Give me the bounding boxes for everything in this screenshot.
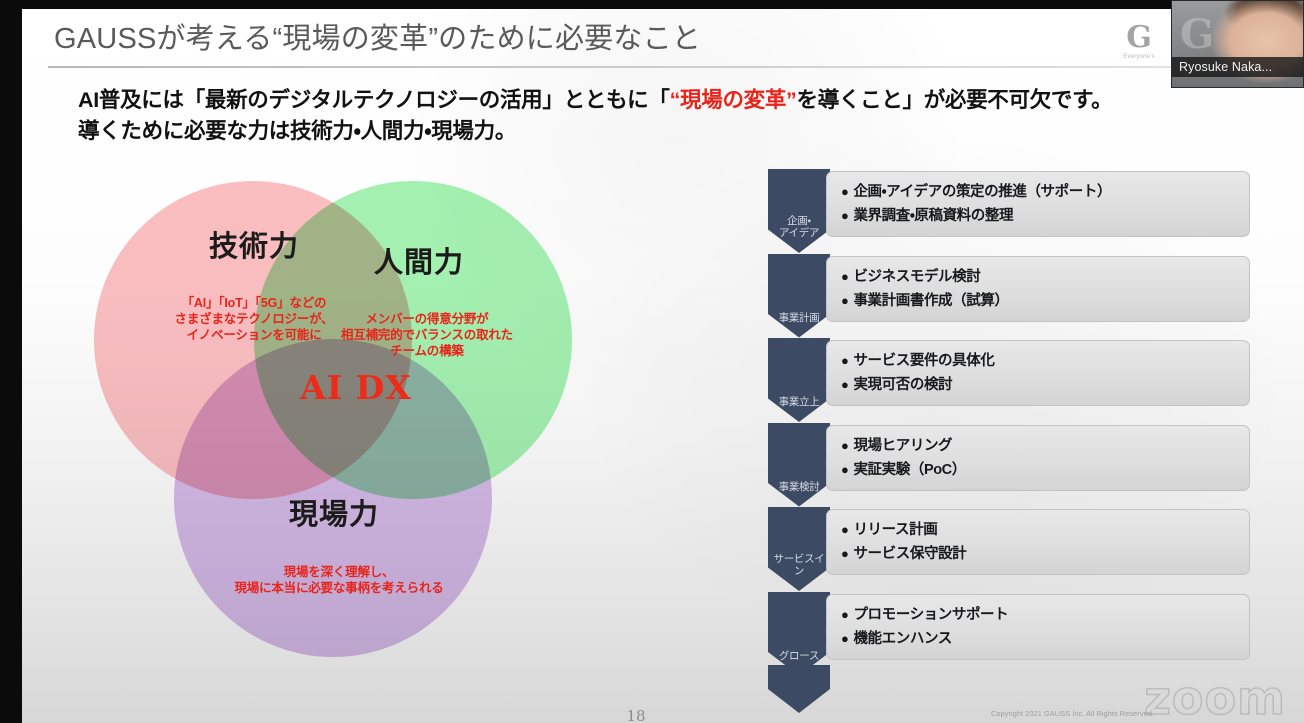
gauss-logo: G Everyone's (1113, 23, 1165, 69)
participant-video-tile[interactable]: G Ryosuke Naka... (1171, 0, 1304, 88)
process-flow-step: サービスイン●リリース計画●サービス保守設計 (752, 507, 1252, 591)
venn-diagram: 技術力 「AI」「IoT」「5G」などのさまざまなテクノロジーが、イノベーション… (74, 159, 734, 679)
process-step-bullet-item: ●実現可否の検討 (841, 373, 1237, 397)
zoom-screenshare-window: GAUSSが考える“現場の変革”のために必要なこと G Everyone's A… (0, 0, 1304, 723)
lead-paragraph: AI普及には「最新のデジタルテクノロジーの活用」とともに「“現場の変革”を導くこ… (78, 85, 1268, 147)
copyright-notice: Copyright 2021 GAUSS Inc. All Rights Res… (991, 709, 1154, 719)
venn-center-label-ai-dx: AI DX (266, 369, 446, 407)
bullet-icon: ● (841, 293, 848, 308)
bullet-icon: ● (841, 462, 848, 477)
gauss-logo-subtext: Everyone's (1113, 53, 1165, 61)
bullet-icon: ● (841, 546, 848, 561)
venn-label-technical-power: 技術力 (169, 231, 339, 263)
process-step-bullet-item: ●実証実験（PoC） (841, 458, 1237, 482)
process-step-detail-box: ●プロモーションサポート●機能エンハンス (826, 594, 1250, 660)
process-step-stage-label: グロース (770, 650, 828, 662)
process-step-chevron-icon: 事業検討 (768, 423, 830, 507)
process-step-stage-label: 事業検討 (770, 481, 828, 493)
slide-header: GAUSSが考える“現場の変革”のために必要なこと G Everyone's (22, 9, 1304, 71)
bullet-icon: ● (841, 184, 848, 199)
process-step-bullet-item: ●機能エンハンス (841, 627, 1237, 651)
process-step-stage-label: 事業計画 (770, 312, 828, 324)
title-divider (48, 66, 1288, 68)
process-step-bullet-item: ●現場ヒアリング (841, 434, 1237, 458)
process-step-stage-label: 事業立上 (770, 396, 828, 408)
process-step-detail-box: ●サービス要件の具体化●実現可否の検討 (826, 340, 1250, 406)
venn-description-human-power: メンバーの得意分野が相互補完的でバランスの取れたチームの構築 (302, 311, 552, 359)
venn-label-human-power: 人間力 (334, 247, 504, 279)
lead-text-post: を導くこと」が必要不可欠です。 (797, 88, 1113, 112)
gauss-logo-glyph: G (1113, 23, 1165, 53)
lead-text-highlight: “現場の変革” (670, 88, 797, 112)
zoom-watermark: zoom (1144, 675, 1286, 721)
bullet-icon: ● (841, 438, 848, 453)
process-flow-step: 事業計画●ビジネスモデル検討●事業計画書作成（試算） (752, 254, 1252, 338)
process-step-detail-box: ●ビジネスモデル検討●事業計画書作成（試算） (826, 256, 1250, 322)
process-step-chevron-icon: 企画・アイデア (768, 169, 830, 253)
process-step-bullet-item: ●サービス要件の具体化 (841, 349, 1237, 373)
process-step-bullet-item: ●ビジネスモデル検討 (841, 265, 1237, 289)
process-flow-step: 事業検討●現場ヒアリング●実証実験（PoC） (752, 423, 1252, 507)
page-title: GAUSSが考える“現場の変革”のために必要なこと (54, 22, 701, 56)
presentation-slide: GAUSSが考える“現場の変革”のために必要なこと G Everyone's A… (22, 9, 1304, 723)
process-step-chevron-icon: 事業立上 (768, 338, 830, 422)
process-step-detail-box: ●企画・アイデアの策定の推進（サポート）●業界調査・原稿資料の整理 (826, 171, 1250, 237)
process-step-bullet-item: ●業界調査・原稿資料の整理 (841, 204, 1237, 228)
process-step-bullet-item: ●企画・アイデアの策定の推進（サポート） (841, 180, 1237, 204)
process-step-detail-box: ●現場ヒアリング●実証実験（PoC） (826, 425, 1250, 491)
process-step-bullet-item: ●プロモーションサポート (841, 603, 1237, 627)
process-step-stage-label: 企画・アイデア (770, 215, 828, 239)
process-flow-step: 事業立上●サービス要件の具体化●実現可否の検討 (752, 338, 1252, 422)
process-flow-list: 企画・アイデア●企画・アイデアの策定の推進（サポート）●業界調査・原稿資料の整理… (752, 169, 1272, 714)
bullet-icon: ● (841, 522, 848, 537)
venn-label-field-power: 現場力 (249, 499, 419, 531)
process-step-detail-box: ●リリース計画●サービス保守設計 (826, 509, 1250, 575)
lead-line-2: 導くために必要な力は技術力・人間力・現場力。 (78, 116, 1268, 147)
process-step-chevron-icon: 事業計画 (768, 254, 830, 338)
bullet-icon: ● (841, 377, 848, 392)
bullet-icon: ● (841, 631, 848, 646)
bullet-icon: ● (841, 208, 848, 223)
process-step-stage-label: サービスイン (770, 553, 828, 577)
slide-page-number: 18 (596, 707, 676, 723)
process-flow-step: 企画・アイデア●企画・アイデアの策定の推進（サポート）●業界調査・原稿資料の整理 (752, 169, 1252, 253)
process-flow-step: グロース●プロモーションサポート●機能エンハンス (752, 592, 1252, 676)
bullet-icon: ● (841, 353, 848, 368)
lead-line-1: AI普及には「最新のデジタルテクノロジーの活用」とともに「“現場の変革”を導くこ… (78, 85, 1268, 116)
participant-name-bar: Ryosuke Naka... (1172, 57, 1304, 77)
process-step-chevron-icon: グロース (768, 592, 830, 676)
process-step-bullet-item: ●サービス保守設計 (841, 542, 1237, 566)
participant-name: Ryosuke Naka... (1179, 60, 1272, 74)
lead-text-pre: AI普及には「最新のデジタルテクノロジーの活用」とともに「 (78, 88, 670, 112)
process-step-bullet-item: ●リリース計画 (841, 518, 1237, 542)
venn-description-field-power: 現場を深く理解し、現場に本当に必要な事柄を考えられる (209, 564, 469, 596)
bullet-icon: ● (841, 607, 848, 622)
process-step-bullet-item: ●事業計画書作成（試算） (841, 289, 1237, 313)
process-step-chevron-icon: サービスイン (768, 507, 830, 591)
bullet-icon: ● (841, 269, 848, 284)
gauss-logo-ghost: G (1180, 15, 1214, 55)
